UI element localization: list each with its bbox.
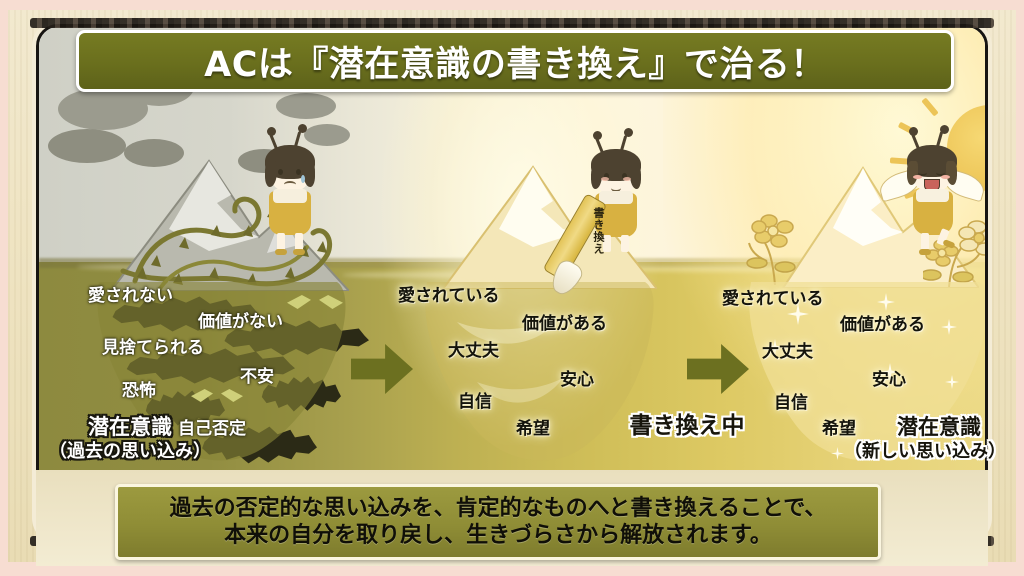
- hair-side: [946, 161, 957, 185]
- negative-thought-label: 不安: [240, 362, 274, 387]
- mouth: [284, 181, 296, 188]
- eye: [278, 169, 283, 175]
- antenna-ball-icon: [940, 125, 949, 134]
- positive-thought-label: 安心: [872, 365, 906, 390]
- poster-root: 書き換え: [0, 0, 1024, 576]
- negative-thought-label: 愛されない: [88, 281, 173, 306]
- blush: [941, 175, 950, 179]
- blush: [601, 177, 609, 181]
- positive-thought-label: 自信: [774, 388, 808, 413]
- cloud-icon: [276, 93, 336, 119]
- positive-thought-label: 希望: [822, 414, 856, 439]
- positive-thought-label: 愛されている: [722, 284, 824, 309]
- positive-thought-label: 価値がある: [522, 309, 607, 334]
- blouse: [599, 191, 633, 204]
- antenna-ball-icon: [267, 127, 276, 136]
- positive-thought-label: 愛されている: [398, 281, 500, 306]
- rewriting-status-label: 書き換え中: [612, 414, 762, 439]
- hair-side: [303, 161, 315, 187]
- tear-icon: [301, 175, 305, 183]
- flower-icon: [745, 205, 815, 285]
- blush: [623, 177, 631, 181]
- positive-thought-label: 希望: [516, 414, 550, 439]
- happy-girl: [885, 125, 977, 257]
- negative-thought-label: 価値がない: [198, 307, 283, 332]
- frame-tape-top: [30, 18, 994, 28]
- shoe: [293, 249, 305, 255]
- blouse: [916, 189, 949, 202]
- monster-eyes-icon: [191, 389, 247, 409]
- antenna-ball-icon: [593, 131, 602, 140]
- left-subconscious-sub: （過去の思い込み）: [24, 442, 236, 462]
- monster-eyes-icon: [287, 295, 345, 315]
- antenna-ball-icon: [624, 128, 633, 137]
- right-subconscious-label: 潜在意識: [874, 416, 1004, 439]
- caption-line-2: 本来の自分を取り戻し、生きづらさから解放されます。: [224, 522, 772, 550]
- sad-girl: [251, 123, 331, 255]
- positive-thought-label: 自信: [458, 387, 492, 412]
- brush-label: 書き換え: [590, 207, 606, 277]
- leg: [621, 235, 629, 252]
- negative-thought-label: 恐怖: [122, 376, 156, 401]
- positive-thought-label: 大丈夫: [762, 337, 813, 362]
- hair-side: [630, 165, 641, 189]
- eye: [296, 169, 301, 175]
- title-plate: ACは『潜在意識の書き換え』で治る！: [76, 30, 954, 92]
- shoe: [275, 249, 287, 255]
- left-subconscious-label: 潜在意識: [40, 416, 220, 439]
- caption-line-1: 過去の否定的な思い込みを、肯定的なものへと書き換えることで、: [170, 495, 827, 523]
- positive-thought-label: 大丈夫: [448, 336, 499, 361]
- shoe: [942, 239, 955, 249]
- positive-thought-label: 価値がある: [840, 310, 925, 335]
- right-subconscious-sub: （新しい思い込み）: [830, 442, 1020, 462]
- blouse: [273, 189, 307, 203]
- caption-plate: 過去の否定的な思い込みを、肯定的なものへと書き換えることで、 本来の自分を取り戻…: [115, 484, 881, 560]
- positive-thought-label: 安心: [560, 365, 594, 390]
- illustration-card: 書き換え: [36, 24, 988, 540]
- page-title: ACは『潜在意識の書き換え』で治る！: [204, 36, 826, 87]
- negative-thought-label: 見捨てられる: [102, 333, 204, 358]
- antenna-ball-icon: [909, 127, 918, 136]
- blush: [913, 175, 922, 179]
- shoe: [919, 249, 931, 255]
- antenna-ball-icon: [298, 124, 307, 133]
